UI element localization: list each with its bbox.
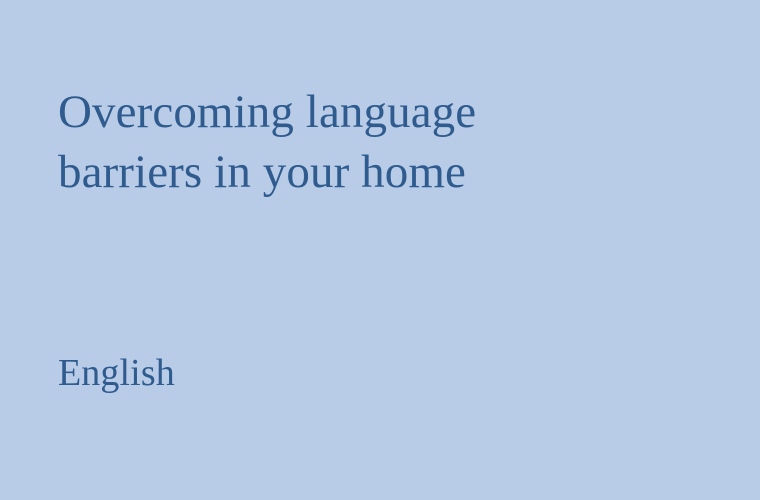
- slide-content: Overcoming language barriers in your hom…: [58, 0, 678, 500]
- slide-title: Overcoming language barriers in your hom…: [58, 82, 618, 202]
- slide: Overcoming language barriers in your hom…: [0, 0, 760, 500]
- language-label: English: [58, 350, 175, 396]
